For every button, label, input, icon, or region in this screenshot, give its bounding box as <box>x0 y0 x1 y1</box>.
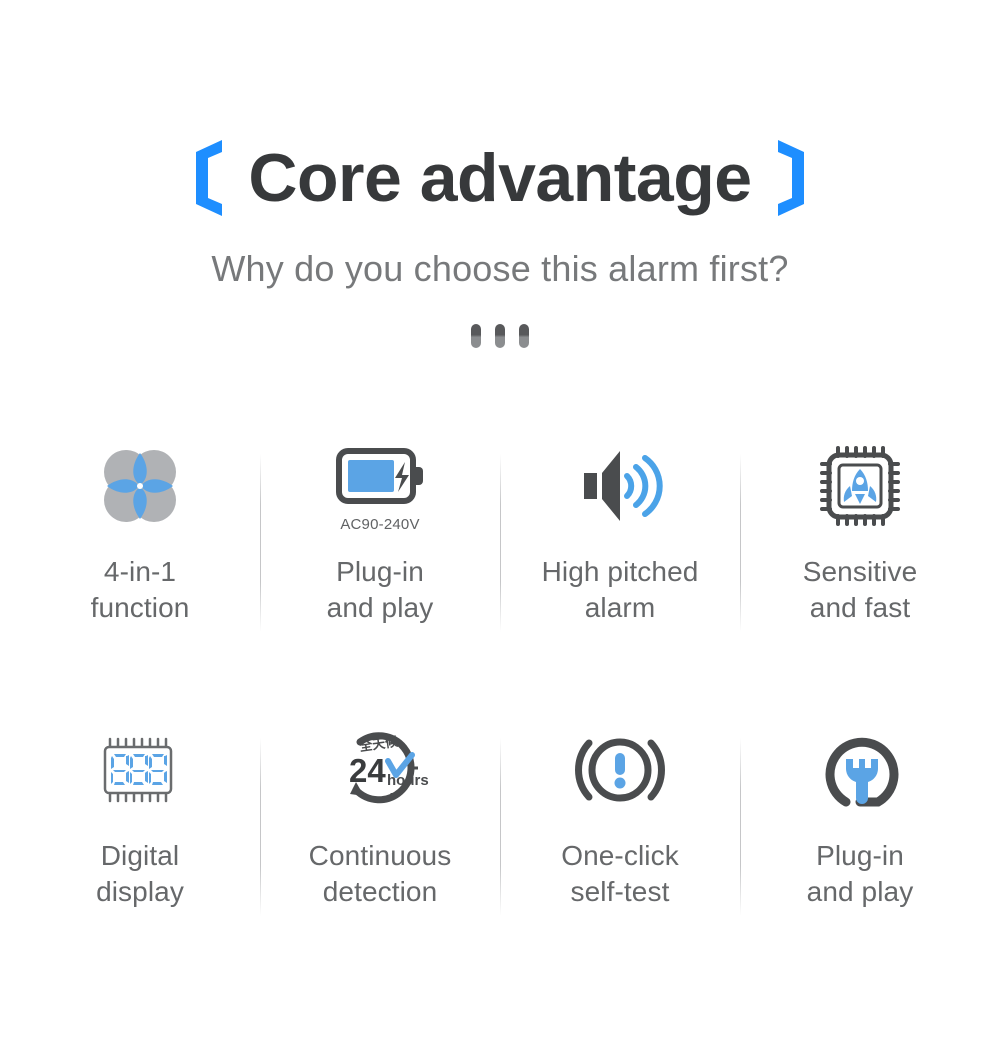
feature-item-plug-and-play-battery: AC90-240V Plug-in and play <box>260 432 500 654</box>
feature-label-line2: alarm <box>542 590 699 626</box>
feature-label: One-click self-test <box>561 838 679 909</box>
exclamation-circle-alert-icon <box>573 727 667 813</box>
feature-label-line2: self-test <box>561 874 679 910</box>
feature-item-digital-display: Digital display <box>20 716 260 938</box>
feature-label-line1: Plug-in <box>816 840 904 871</box>
feature-label-line2: and fast <box>803 590 918 626</box>
feature-label-line1: Digital <box>101 840 180 871</box>
feature-label-line1: 4-in-1 <box>104 556 176 587</box>
dot-separator <box>0 324 1000 348</box>
feature-item-one-click-self-test: One-click self-test <box>500 716 740 938</box>
core-advantage-page: Core advantage Why do you choose this al… <box>0 0 1000 1056</box>
feature-label-line1: Sensitive <box>803 556 918 587</box>
feature-label-line2: function <box>91 590 190 626</box>
left-bracket-icon <box>190 138 226 218</box>
feature-label: High pitched alarm <box>542 554 699 625</box>
feature-item-continuous-detection: 全天候 24 hours Continuous detection <box>260 716 500 938</box>
separator-dot <box>471 324 481 348</box>
title-row: Core advantage <box>0 132 1000 224</box>
battery-charging-icon <box>332 439 428 513</box>
icon-slot: 全天候 24 hours <box>330 716 430 824</box>
clock-24-hours-icon: 全天候 24 hours <box>330 728 430 812</box>
feature-label-line2: and play <box>807 874 914 910</box>
icon-slot <box>572 432 668 540</box>
feature-label-line2: display <box>96 874 184 910</box>
page-title: Core advantage <box>248 144 751 212</box>
icon-slot <box>92 716 188 824</box>
icon-slot <box>814 432 906 540</box>
icon-slot <box>573 716 667 824</box>
four-circles-flower-icon <box>92 438 188 534</box>
clock-hours-text: hours <box>387 772 429 789</box>
chip-rocket-icon <box>814 440 906 532</box>
feature-grid: 4-in-1 function AC90-240V Plug-in and pl… <box>20 432 980 938</box>
icon-slot <box>816 716 904 824</box>
feature-label-line2: detection <box>309 874 452 910</box>
feature-item-high-pitched-alarm: High pitched alarm <box>500 432 740 654</box>
battery-voltage-caption: AC90-240V <box>340 516 419 533</box>
feature-label: Plug-in and play <box>327 554 434 625</box>
power-plug-icon <box>816 726 904 814</box>
feature-item-sensitive-and-fast: Sensitive and fast <box>740 432 980 654</box>
feature-label-line1: High pitched <box>542 556 699 587</box>
separator-dot <box>519 324 529 348</box>
feature-label-line1: One-click <box>561 840 679 871</box>
clock-number-text: 24 <box>349 752 386 789</box>
feature-label-line1: Plug-in <box>336 556 424 587</box>
separator-dot <box>495 324 505 348</box>
feature-label-line1: Continuous <box>309 840 452 871</box>
page-header: Core advantage Why do you choose this al… <box>0 0 1000 348</box>
feature-label: Continuous detection <box>309 838 452 909</box>
icon-slot: AC90-240V <box>332 432 428 540</box>
feature-item-plug-and-play-plug: Plug-in and play <box>740 716 980 938</box>
speaker-sound-waves-icon <box>572 443 668 529</box>
feature-label: 4-in-1 function <box>91 554 190 625</box>
right-bracket-icon <box>774 138 810 218</box>
icon-slot <box>92 432 188 540</box>
feature-label: Sensitive and fast <box>803 554 918 625</box>
feature-item-4-in-1: 4-in-1 function <box>20 432 260 654</box>
feature-label: Plug-in and play <box>807 838 914 909</box>
feature-label: Digital display <box>96 838 184 909</box>
page-subtitle: Why do you choose this alarm first? <box>0 248 1000 290</box>
feature-label-line2: and play <box>327 590 434 626</box>
seven-segment-display-icon <box>92 735 188 805</box>
